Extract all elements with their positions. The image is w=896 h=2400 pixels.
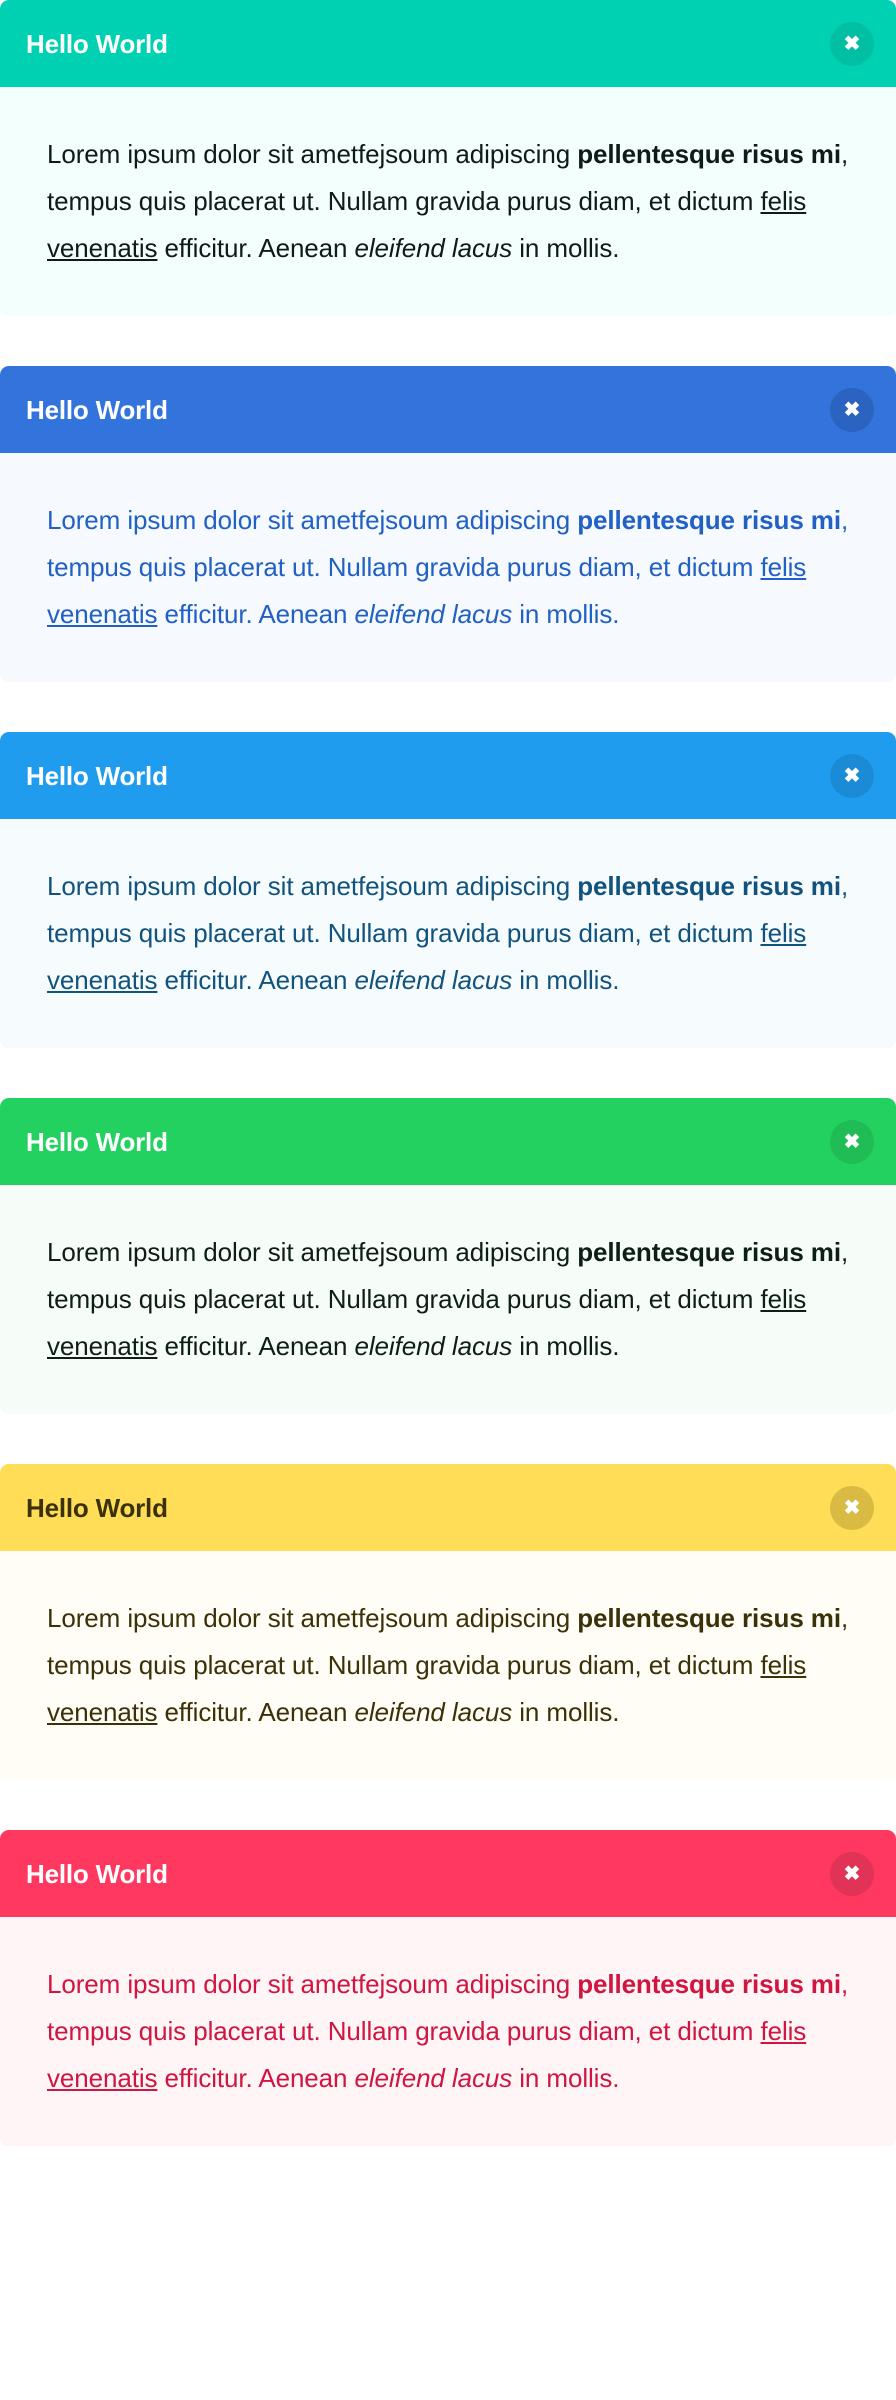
message-tail: in mollis. (512, 965, 619, 995)
message-lead: Lorem ipsum dolor sit ametfejsoum adipis… (47, 1603, 577, 1633)
message-bold: pellentesque risus mi (577, 505, 841, 535)
card-body: Lorem ipsum dolor sit ametfejsoum adipis… (0, 1551, 896, 1780)
message-bold: pellentesque risus mi (577, 1603, 841, 1633)
card-message: Lorem ipsum dolor sit ametfejsoum adipis… (47, 131, 856, 272)
card-title: Hello World (26, 31, 168, 57)
notification-card: Hello World✖Lorem ipsum dolor sit ametfe… (0, 0, 896, 316)
close-icon: ✖ (844, 34, 861, 54)
message-tail: in mollis. (512, 1331, 619, 1361)
card-message: Lorem ipsum dolor sit ametfejsoum adipis… (47, 1595, 856, 1736)
card-message: Lorem ipsum dolor sit ametfejsoum adipis… (47, 863, 856, 1004)
close-button[interactable]: ✖ (830, 754, 874, 798)
close-button[interactable]: ✖ (830, 1486, 874, 1530)
close-icon: ✖ (844, 1132, 861, 1152)
close-icon: ✖ (844, 1498, 861, 1518)
close-button[interactable]: ✖ (830, 22, 874, 66)
message-bold: pellentesque risus mi (577, 1969, 841, 1999)
close-button[interactable]: ✖ (830, 1120, 874, 1164)
card-header: Hello World✖ (0, 1830, 896, 1917)
notification-card-stack: Hello World✖Lorem ipsum dolor sit ametfe… (0, 0, 896, 2146)
message-bold: pellentesque risus mi (577, 871, 841, 901)
card-body: Lorem ipsum dolor sit ametfejsoum adipis… (0, 87, 896, 316)
card-title: Hello World (26, 1861, 168, 1887)
message-lead: Lorem ipsum dolor sit ametfejsoum adipis… (47, 1237, 577, 1267)
message-after-link: efficitur. Aenean (157, 965, 354, 995)
message-after-link: efficitur. Aenean (157, 233, 354, 263)
card-header: Hello World✖ (0, 366, 896, 453)
notification-card: Hello World✖Lorem ipsum dolor sit ametfe… (0, 366, 896, 682)
card-header: Hello World✖ (0, 0, 896, 87)
card-header: Hello World✖ (0, 1464, 896, 1551)
card-title: Hello World (26, 763, 168, 789)
message-tail: in mollis. (512, 2063, 619, 2093)
message-tail: in mollis. (512, 1697, 619, 1727)
message-lead: Lorem ipsum dolor sit ametfejsoum adipis… (47, 139, 577, 169)
message-lead: Lorem ipsum dolor sit ametfejsoum adipis… (47, 871, 577, 901)
card-body: Lorem ipsum dolor sit ametfejsoum adipis… (0, 1917, 896, 2146)
message-italic: eleifend lacus (355, 2063, 513, 2093)
message-italic: eleifend lacus (355, 599, 513, 629)
close-icon: ✖ (844, 766, 861, 786)
message-lead: Lorem ipsum dolor sit ametfejsoum adipis… (47, 505, 577, 535)
card-title: Hello World (26, 397, 168, 423)
message-italic: eleifend lacus (355, 1697, 513, 1727)
message-tail: in mollis. (512, 599, 619, 629)
card-body: Lorem ipsum dolor sit ametfejsoum adipis… (0, 1185, 896, 1414)
card-title: Hello World (26, 1129, 168, 1155)
card-body: Lorem ipsum dolor sit ametfejsoum adipis… (0, 819, 896, 1048)
message-after-link: efficitur. Aenean (157, 599, 354, 629)
card-message: Lorem ipsum dolor sit ametfejsoum adipis… (47, 1229, 856, 1370)
message-italic: eleifend lacus (355, 1331, 513, 1361)
message-after-link: efficitur. Aenean (157, 1697, 354, 1727)
notification-card: Hello World✖Lorem ipsum dolor sit ametfe… (0, 1098, 896, 1414)
notification-card: Hello World✖Lorem ipsum dolor sit ametfe… (0, 1464, 896, 1780)
close-button[interactable]: ✖ (830, 1852, 874, 1896)
message-bold: pellentesque risus mi (577, 1237, 841, 1267)
message-italic: eleifend lacus (355, 233, 513, 263)
close-icon: ✖ (844, 400, 861, 420)
card-message: Lorem ipsum dolor sit ametfejsoum adipis… (47, 1961, 856, 2102)
card-title: Hello World (26, 1495, 168, 1521)
card-header: Hello World✖ (0, 1098, 896, 1185)
close-icon: ✖ (844, 1864, 861, 1884)
notification-card: Hello World✖Lorem ipsum dolor sit ametfe… (0, 732, 896, 1048)
message-tail: in mollis. (512, 233, 619, 263)
card-body: Lorem ipsum dolor sit ametfejsoum adipis… (0, 453, 896, 682)
message-italic: eleifend lacus (355, 965, 513, 995)
notification-card: Hello World✖Lorem ipsum dolor sit ametfe… (0, 1830, 896, 2146)
message-bold: pellentesque risus mi (577, 139, 841, 169)
message-after-link: efficitur. Aenean (157, 1331, 354, 1361)
card-header: Hello World✖ (0, 732, 896, 819)
message-after-link: efficitur. Aenean (157, 2063, 354, 2093)
message-lead: Lorem ipsum dolor sit ametfejsoum adipis… (47, 1969, 577, 1999)
close-button[interactable]: ✖ (830, 388, 874, 432)
card-message: Lorem ipsum dolor sit ametfejsoum adipis… (47, 497, 856, 638)
